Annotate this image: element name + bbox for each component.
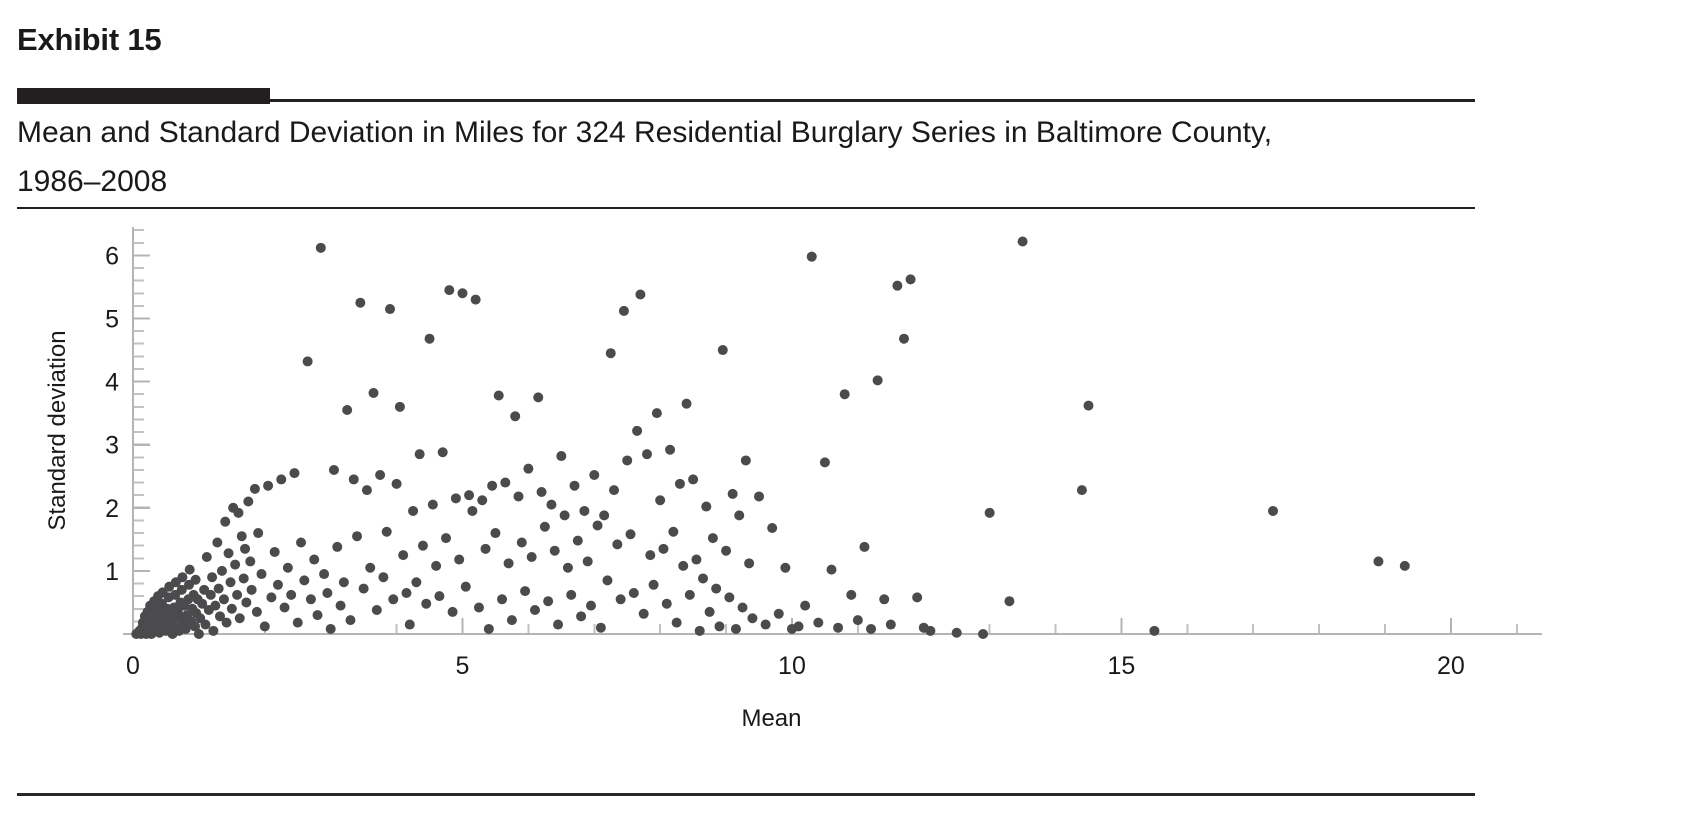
data-point [303, 356, 313, 366]
data-point [467, 506, 477, 516]
data-point [185, 565, 195, 575]
data-point [240, 544, 250, 554]
data-point [731, 624, 741, 634]
data-point [682, 399, 692, 409]
data-point [296, 538, 306, 548]
data-point [675, 479, 685, 489]
data-point [774, 609, 784, 619]
data-point [227, 604, 237, 614]
data-point [705, 607, 715, 617]
data-point [879, 594, 889, 604]
data-point [392, 479, 402, 489]
data-point [523, 464, 533, 474]
title-divider [17, 207, 1475, 209]
data-point [1083, 401, 1093, 411]
data-point [513, 491, 523, 501]
data-point [243, 496, 253, 506]
data-point [560, 510, 570, 520]
data-point [273, 580, 283, 590]
data-point [349, 474, 359, 484]
data-point [378, 572, 388, 582]
data-point [241, 597, 251, 607]
data-point [612, 539, 622, 549]
y-tick-label: 4 [105, 369, 119, 397]
data-point [886, 620, 896, 630]
data-point [550, 546, 560, 556]
data-point [210, 601, 220, 611]
data-point [899, 334, 909, 344]
data-point [237, 531, 247, 541]
data-point [721, 546, 731, 556]
data-point [200, 620, 210, 630]
y-tick-label: 5 [105, 305, 119, 333]
data-point [326, 624, 336, 634]
data-point [202, 552, 212, 562]
data-point [718, 345, 728, 355]
data-point [263, 481, 273, 491]
data-point [665, 445, 675, 455]
data-point [222, 618, 232, 628]
data-point [1373, 556, 1383, 566]
data-point [602, 575, 612, 585]
data-point [457, 288, 467, 298]
data-point [724, 592, 734, 602]
data-point [520, 586, 530, 596]
data-point [289, 468, 299, 478]
data-point [599, 510, 609, 520]
y-axis-title: Standard deviation [44, 330, 71, 530]
data-point [253, 528, 263, 538]
data-point [434, 591, 444, 601]
data-point [477, 495, 487, 505]
data-point [487, 481, 497, 491]
data-point [892, 281, 902, 291]
data-point [421, 599, 431, 609]
data-point [695, 626, 705, 636]
data-point [738, 602, 748, 612]
data-point [232, 590, 242, 600]
data-point [596, 623, 606, 633]
data-point [428, 500, 438, 510]
data-point [490, 528, 500, 538]
y-tick-label: 6 [105, 242, 119, 270]
data-point [448, 607, 458, 617]
data-point [688, 474, 698, 484]
data-point [632, 426, 642, 436]
data-point [533, 392, 543, 402]
data-point [639, 609, 649, 619]
x-tick-label: 20 [1437, 652, 1465, 680]
data-point [767, 523, 777, 533]
data-point [405, 620, 415, 630]
data-point [352, 531, 362, 541]
x-axis-minor-ticks [199, 624, 1517, 634]
data-point [239, 573, 249, 583]
data-point [441, 533, 451, 543]
y-axis-tick-labels: 123456 [105, 242, 119, 586]
data-point [807, 252, 817, 262]
accent-bar [17, 88, 270, 104]
data-point [734, 510, 744, 520]
exhibit-label: Exhibit 15 [17, 22, 161, 58]
data-point [622, 455, 632, 465]
data-point [1004, 596, 1014, 606]
data-point [451, 493, 461, 503]
data-point [711, 584, 721, 594]
x-tick-label: 0 [126, 652, 140, 680]
data-point [431, 561, 441, 571]
data-point [530, 605, 540, 615]
data-point [332, 542, 342, 552]
data-point [507, 615, 517, 625]
data-point [461, 582, 471, 592]
data-point [780, 563, 790, 573]
data-point [846, 590, 856, 600]
data-point [283, 563, 293, 573]
data-point [336, 601, 346, 611]
data-point [365, 563, 375, 573]
data-point [177, 572, 187, 582]
data-point [329, 465, 339, 475]
data-point [250, 484, 260, 494]
data-point [589, 470, 599, 480]
data-point [484, 624, 494, 634]
data-point [471, 295, 481, 305]
data-point [355, 298, 365, 308]
data-point [714, 621, 724, 631]
data-point [313, 610, 323, 620]
data-point [500, 478, 510, 488]
data-point [744, 558, 754, 568]
data-point [398, 550, 408, 560]
data-point [214, 584, 224, 594]
data-point [626, 529, 636, 539]
x-axis-title: Mean [741, 705, 801, 732]
data-point [866, 624, 876, 634]
data-point [527, 552, 537, 562]
data-point [668, 527, 678, 537]
data-point [339, 577, 349, 587]
data-point [583, 556, 593, 566]
y-axis-minor-ticks [133, 230, 144, 634]
data-point [425, 334, 435, 344]
data-point [293, 618, 303, 628]
data-point [570, 481, 580, 491]
data-point [952, 628, 962, 638]
data-point [741, 455, 751, 465]
data-point [678, 561, 688, 571]
data-point [438, 447, 448, 457]
data-point [454, 555, 464, 565]
data-point [853, 615, 863, 625]
data-point [652, 408, 662, 418]
data-point [978, 629, 988, 639]
x-tick-label: 10 [778, 652, 806, 680]
data-point [382, 527, 392, 537]
data-point [540, 522, 550, 532]
data-point [649, 580, 659, 590]
data-point [191, 575, 201, 585]
x-axis-tick-labels: 05101520 [126, 652, 1465, 680]
data-point [375, 470, 385, 480]
data-point [415, 449, 425, 459]
data-point [579, 506, 589, 516]
data-point [362, 485, 372, 495]
y-tick-label: 1 [105, 558, 119, 586]
data-points [131, 237, 1410, 639]
data-point [194, 629, 204, 639]
data-point [444, 285, 454, 295]
data-point [698, 573, 708, 583]
data-point [1077, 485, 1087, 495]
data-point [840, 389, 850, 399]
data-point [800, 601, 810, 611]
data-point [553, 620, 563, 630]
data-point [270, 547, 280, 557]
data-point [286, 590, 296, 600]
data-point [543, 596, 553, 606]
data-point [859, 542, 869, 552]
data-point [224, 548, 234, 558]
data-point [728, 489, 738, 499]
header-rule-group [17, 88, 1475, 104]
data-point [655, 495, 665, 505]
data-point [230, 560, 240, 570]
data-point [497, 594, 507, 604]
data-point [510, 411, 520, 421]
data-point [813, 618, 823, 628]
data-point [481, 544, 491, 554]
data-point [306, 594, 316, 604]
data-point [629, 588, 639, 598]
x-tick-label: 15 [1108, 652, 1136, 680]
data-point [316, 243, 326, 253]
data-point [217, 566, 227, 576]
data-point [1018, 237, 1028, 247]
data-point [220, 517, 230, 527]
data-point [537, 487, 547, 497]
data-point [233, 508, 243, 518]
data-point [912, 592, 922, 602]
data-point [207, 572, 217, 582]
data-point [645, 550, 655, 560]
data-point [464, 490, 474, 500]
data-point [504, 558, 514, 568]
data-point [873, 375, 883, 385]
data-point [206, 590, 216, 600]
exhibit-figure: Exhibit 15 Mean and Standard Deviation i… [0, 0, 1698, 835]
exhibit-title: Mean and Standard Deviation in Miles for… [17, 108, 1357, 206]
data-point [563, 563, 573, 573]
data-point [833, 623, 843, 633]
x-tick-label: 5 [456, 652, 470, 680]
data-point [266, 592, 276, 602]
data-point [1400, 561, 1410, 571]
data-point [593, 520, 603, 530]
data-point [925, 626, 935, 636]
bottom-divider [17, 793, 1475, 796]
data-point [691, 555, 701, 565]
data-point [546, 500, 556, 510]
data-point [319, 569, 329, 579]
data-point [672, 618, 682, 628]
data-point [345, 615, 355, 625]
data-point [372, 605, 382, 615]
data-point [619, 306, 629, 316]
data-point [616, 594, 626, 604]
data-point [708, 533, 718, 543]
y-tick-label: 3 [105, 432, 119, 460]
y-axis-major-ticks [133, 255, 150, 571]
data-point [401, 588, 411, 598]
data-point [252, 607, 262, 617]
data-point [586, 601, 596, 611]
data-point [299, 575, 309, 585]
data-point [642, 449, 652, 459]
data-point [208, 626, 218, 636]
data-point [235, 613, 245, 623]
data-point [761, 620, 771, 630]
data-point [309, 555, 319, 565]
data-point [576, 611, 586, 621]
data-point [322, 588, 332, 598]
data-point [342, 405, 352, 415]
data-point [517, 538, 527, 548]
data-point [701, 502, 711, 512]
data-point [609, 485, 619, 495]
data-point [388, 594, 398, 604]
scatter-plot: 123456 05101520 Mean Standard deviation [0, 215, 1698, 775]
data-point [219, 594, 229, 604]
data-point [1149, 626, 1159, 636]
data-point [369, 388, 379, 398]
data-point [280, 602, 290, 612]
data-point [408, 506, 418, 516]
data-point [256, 569, 266, 579]
data-point [566, 590, 576, 600]
data-point [827, 565, 837, 575]
data-point [573, 536, 583, 546]
data-point [276, 474, 286, 484]
data-point [820, 457, 830, 467]
data-point [247, 585, 257, 595]
data-point [385, 304, 395, 314]
data-point [556, 451, 566, 461]
data-point [794, 621, 804, 631]
data-point [494, 390, 504, 400]
data-point [212, 538, 222, 548]
data-point [635, 290, 645, 300]
data-point [474, 602, 484, 612]
data-point [395, 402, 405, 412]
data-point [906, 274, 916, 284]
data-point [985, 508, 995, 518]
data-point [411, 577, 421, 587]
data-point [245, 556, 255, 566]
data-point [260, 621, 270, 631]
header-divider [270, 99, 1475, 102]
data-point [754, 491, 764, 501]
scatter-plot-svg: 123456 05101520 Mean Standard deviation [0, 215, 1698, 775]
data-point [658, 544, 668, 554]
y-tick-label: 2 [105, 495, 119, 523]
data-point [606, 348, 616, 358]
data-point [226, 577, 236, 587]
data-point [1268, 506, 1278, 516]
data-point [662, 599, 672, 609]
data-point [418, 541, 428, 551]
data-point [359, 584, 369, 594]
data-point [685, 590, 695, 600]
data-point [747, 613, 757, 623]
